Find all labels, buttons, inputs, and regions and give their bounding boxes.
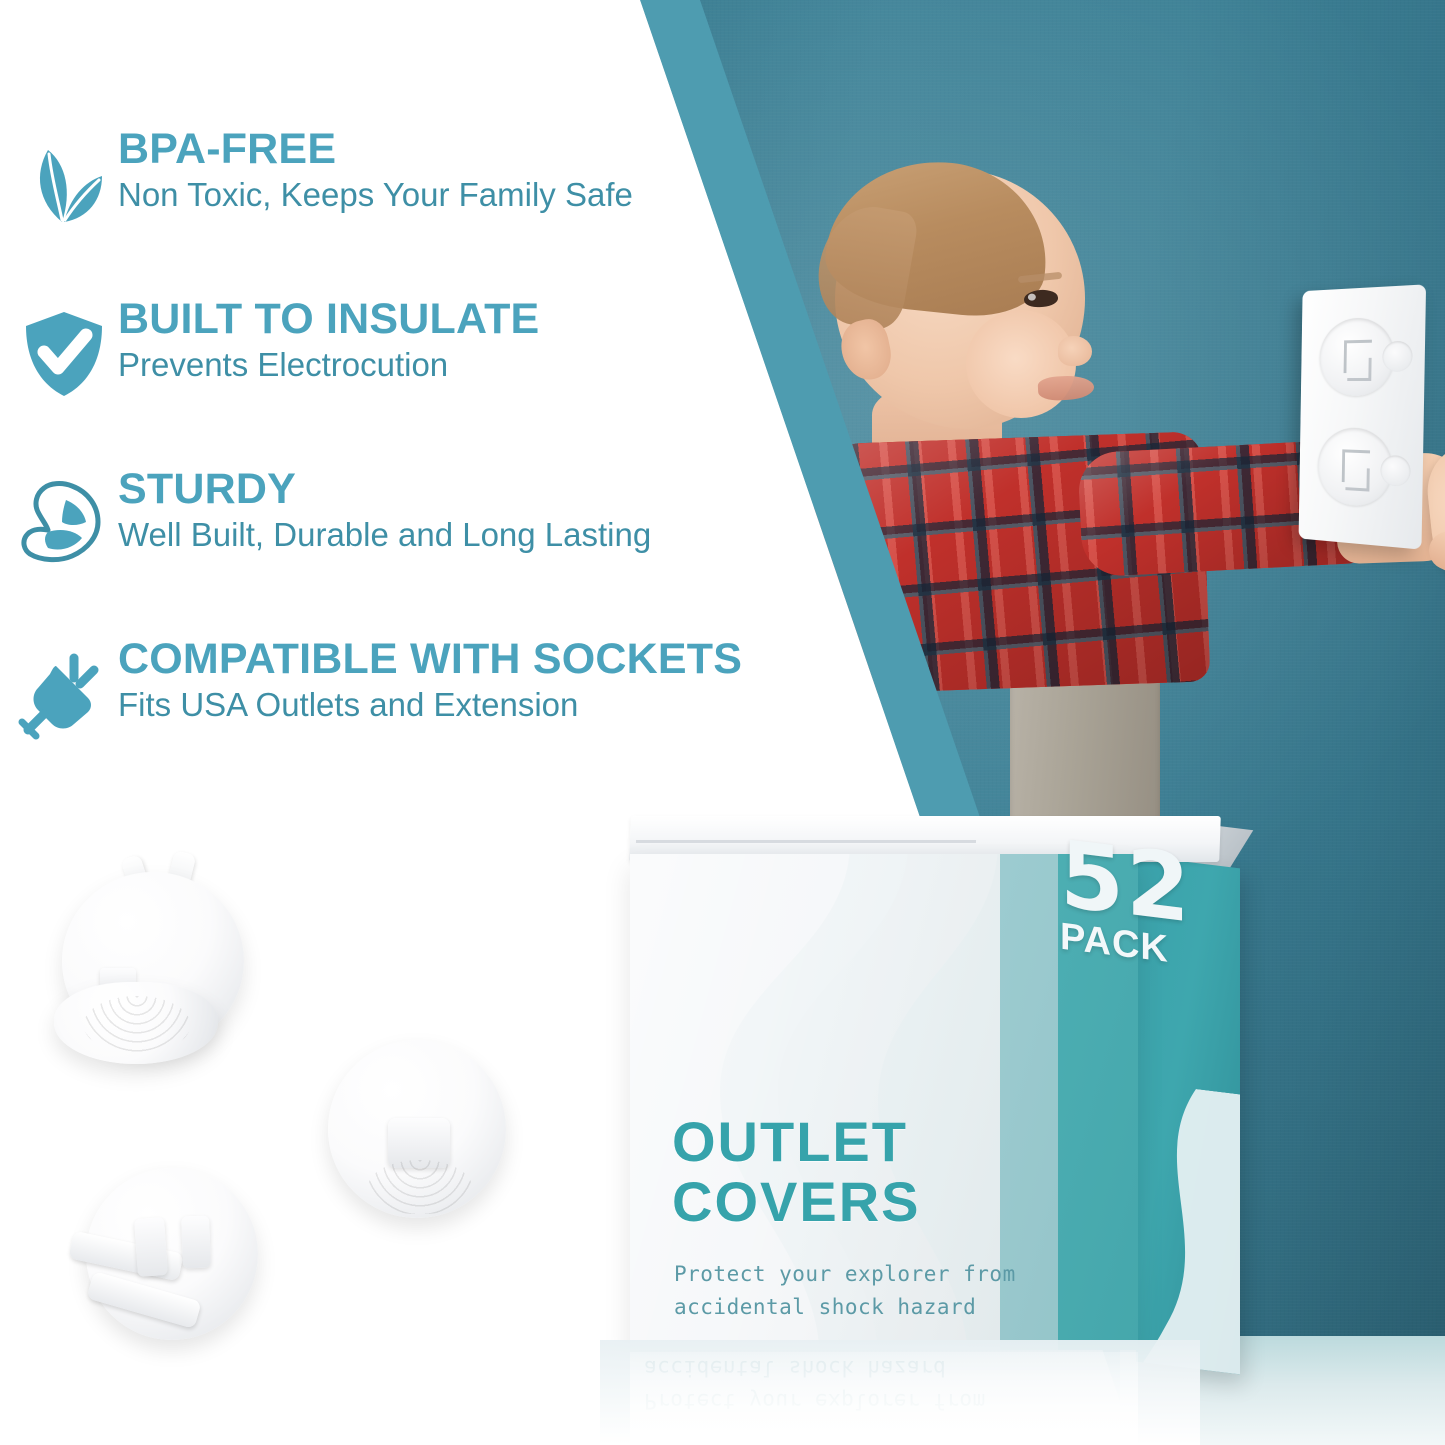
feature-subtitle: Well Built, Durable and Long Lasting [118,517,651,553]
feature-title: BPA-FREE [118,128,633,171]
feature-item-bpa-free: BPA-FREE Non Toxic, Keeps Your Family Sa… [0,128,900,298]
reflection-fade [630,1352,1138,1445]
feature-text: BUILT TO INSULATE Prevents Electrocution [118,298,539,383]
box-lid-seam [636,840,976,843]
feature-subtitle: Fits USA Outlets and Extension [118,687,742,723]
feature-item-built-to-insulate: BUILT TO INSULATE Prevents Electrocution [0,298,900,468]
cover-tab [134,1217,168,1277]
feature-text: COMPATIBLE WITH SOCKETS Fits USA Outlets… [118,638,742,723]
leaf-icon [18,138,110,230]
flexed-arm-icon [18,478,110,570]
box-side-wave [1136,1080,1240,1374]
socket-slot [1345,467,1369,491]
shield-check-icon [18,308,110,400]
feature-title: STURDY [118,468,651,511]
feature-text: BPA-FREE Non Toxic, Keeps Your Family Sa… [118,128,633,213]
feature-subtitle: Prevents Electrocution [118,347,539,383]
baby-nose [1058,336,1092,366]
baby-cheek [966,310,1076,418]
product-infographic: BPA-FREE Non Toxic, Keeps Your Family Sa… [0,0,1445,1445]
feature-subtitle: Non Toxic, Keeps Your Family Safe [118,177,633,213]
feature-title: BUILT TO INSULATE [118,298,539,341]
box-reflection: Protect your explorer from accidental sh… [630,1352,1138,1445]
plug-icon [18,648,110,740]
box-title-line2: COVERS [672,1172,921,1232]
feature-text: STURDY Well Built, Durable and Long Last… [118,468,651,553]
box-tagline-line2: accidental shock hazard [674,1291,1016,1324]
feature-title: COMPATIBLE WITH SOCKETS [118,638,742,681]
socket-slot [1347,358,1371,381]
box-tagline-line1: Protect your explorer from [674,1258,1016,1291]
cover-ridges [368,1160,472,1214]
cover-tab [181,1216,211,1269]
cover-ridges [84,996,190,1052]
baby-lips [1037,375,1094,402]
box-tagline: Protect your explorer from accidental sh… [674,1258,1016,1323]
box-title: OUTLET COVERS [672,1112,921,1233]
box-title-line1: OUTLET [672,1112,921,1172]
outlet-screw [1382,341,1413,372]
pack-count-badge: 52 PACK [1060,836,1230,980]
feature-item-compatible-with-sockets: COMPATIBLE WITH SOCKETS Fits USA Outlets… [0,638,900,808]
wall-outlet-plate [1299,284,1426,549]
outlet-cover-products [40,850,520,1370]
feature-list: BPA-FREE Non Toxic, Keeps Your Family Sa… [0,128,900,808]
feature-item-sturdy: STURDY Well Built, Durable and Long Last… [0,468,900,638]
outlet-screw [1380,455,1411,487]
